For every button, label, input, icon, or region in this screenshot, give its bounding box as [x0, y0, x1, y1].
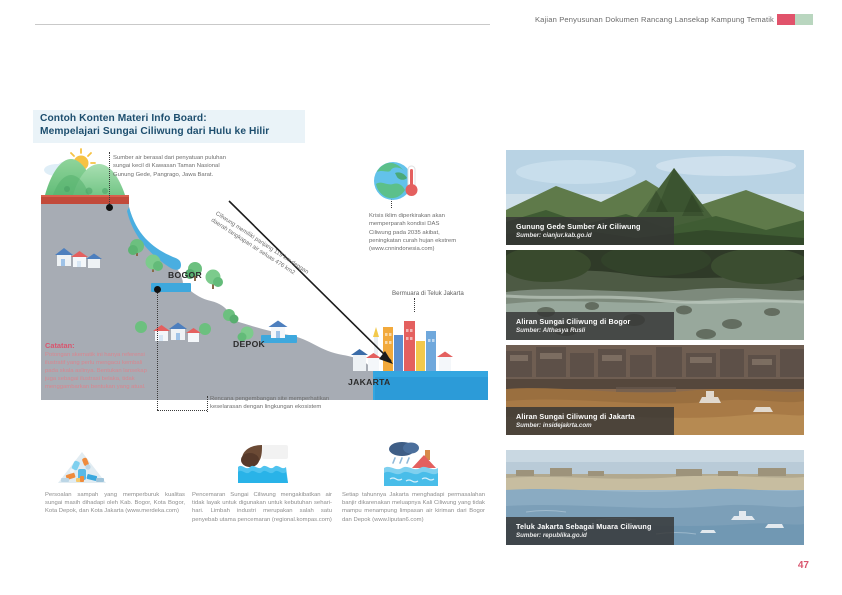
bottom-text-trash: Persoalan sampah yang memperburuk kualit…: [45, 491, 185, 516]
photo-caption-title: Aliran Sungai Ciliwung di Jakarta: [516, 412, 666, 421]
photo-caption-source: Sumber: Althasya Rusli: [516, 327, 666, 334]
leader-dot-site: [154, 286, 161, 293]
photo-caption: Gunung Gede Sumber Air Ciliwung Sumber: …: [506, 217, 674, 245]
water-pollution-pipe-icon: [232, 441, 294, 487]
note-body: Potongan skematik ini hanya referensi il…: [45, 351, 153, 391]
header-swatch-red: [777, 14, 795, 25]
city-label-bogor: BOGOR: [168, 270, 202, 280]
annotation-estuary: Bermuara di Teluk Jakarta: [392, 290, 502, 298]
trash-pile-icon: [52, 443, 112, 487]
leader-line-estuary: [414, 298, 415, 312]
leader-dot-source: [106, 204, 113, 211]
note-title: Catatan:: [45, 341, 75, 350]
header-swatch-green: [795, 14, 813, 25]
photo-ciliwung-bogor: Aliran Sungai Ciliwung di Bogor Sumber: …: [506, 250, 804, 340]
flooded-house-rain-icon: [382, 440, 440, 488]
photo-teluk-jakarta: Teluk Jakarta Sebagai Muara Ciliwung Sum…: [506, 450, 804, 545]
leader-line-source: [109, 152, 110, 208]
city-label-depok: DEPOK: [233, 339, 265, 349]
title-line-2: Mempelajari Sungai Ciliwung dari Hulu ke…: [40, 126, 269, 137]
photo-ciliwung-jakarta: Aliran Sungai Ciliwung di Jakarta Sumber…: [506, 345, 804, 435]
running-header-title: Kajian Penyusunan Dokumen Rancang Lansek…: [535, 15, 774, 24]
photo-caption: Teluk Jakarta Sebagai Muara Ciliwung Sum…: [506, 517, 674, 545]
annotation-water-source: Sumber air berasal dari penyatuan puluha…: [113, 154, 231, 179]
photo-caption-title: Gunung Gede Sumber Air Ciliwung: [516, 222, 666, 231]
photo-caption-source: Sumber: insidejakrta.com: [516, 422, 666, 429]
photo-caption-title: Aliran Sungai Ciliwung di Bogor: [516, 317, 666, 326]
photo-caption-title: Teluk Jakarta Sebagai Muara Ciliwung: [516, 522, 666, 531]
document-page: Kajian Penyusunan Dokumen Rancang Lansek…: [0, 0, 842, 595]
annotation-site-plan: Rencana pengembangan site memperhatikan …: [210, 395, 345, 412]
page-number: 47: [798, 560, 809, 571]
photo-caption: Aliran Sungai Ciliwung di Bogor Sumber: …: [506, 312, 674, 340]
annotation-climate-crisis: Krisis iklim diperkirakan akan memperpar…: [369, 212, 461, 253]
bottom-text-pollution: Pencemaran Sungai Ciliwung mengakibatkan…: [192, 491, 332, 524]
photo-caption: Aliran Sungai Ciliwung di Jakarta Sumber…: [506, 407, 674, 435]
leader-line-site-h: [157, 410, 207, 411]
globe-thermometer-icon: [371, 160, 423, 202]
leader-line-site-v2: [207, 396, 208, 412]
city-label-jakarta: JAKARTA: [348, 377, 391, 387]
photo-gunung-gede: Gunung Gede Sumber Air Ciliwung Sumber: …: [506, 150, 804, 245]
bottom-text-flood: Setiap tahunnya Jakarta menghadapi perma…: [342, 491, 485, 524]
house-midstream: [269, 321, 288, 339]
leader-line-site: [157, 290, 158, 410]
photo-caption-source: Sumber: cianjur.kab.go.id: [516, 232, 666, 239]
header-rule: [35, 24, 490, 25]
photo-caption-source: Sumber: republika.go.id: [516, 532, 666, 539]
title-line-1: Contoh Konten Materi Info Board:: [40, 113, 207, 124]
